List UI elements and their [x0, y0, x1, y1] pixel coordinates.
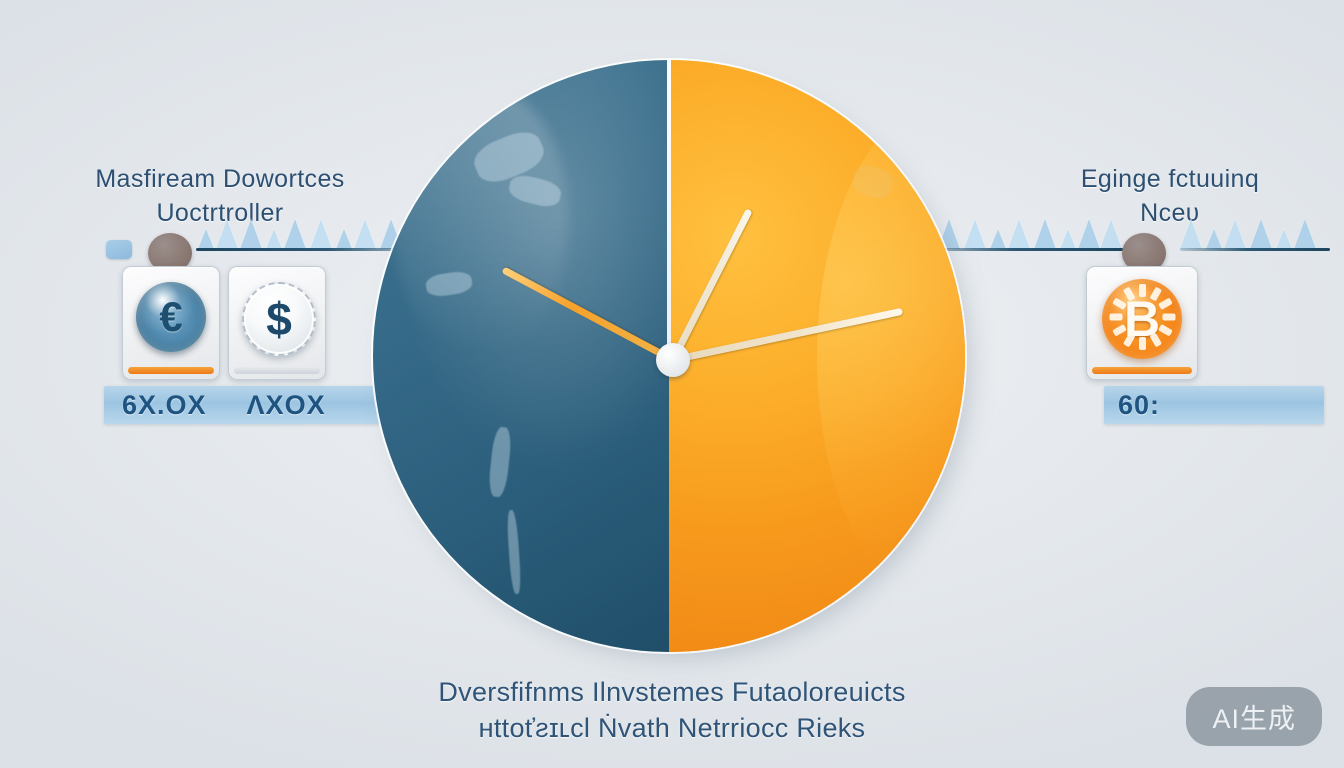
right-heading-line1: Eginge fctuuinq [1081, 165, 1259, 193]
right-rail-baseline-outer [1180, 248, 1330, 251]
pie-gloss-left [391, 84, 569, 356]
right-band-value-1: 60: [1118, 390, 1160, 421]
pie-divider [667, 60, 671, 356]
caption-line1: Dversfifnms Ilnvstemes Futaoloreuicts [0, 674, 1344, 710]
euro-symbol: € [159, 293, 182, 341]
euro-coin-icon: € [136, 282, 206, 352]
left-band-value-2: ΛXOX [247, 390, 326, 421]
pie-slice-orange[interactable] [669, 60, 965, 652]
left-square-marker [106, 240, 132, 259]
pie-slice-blue[interactable] [373, 60, 669, 652]
ai-generated-watermark: AI生成 [1186, 687, 1322, 746]
euro-card-accent [128, 367, 214, 374]
clock-center-hub [656, 343, 690, 377]
left-heading-line1: Masfiream Dowortces [95, 165, 344, 193]
right-zigzag-rail-outer [1180, 212, 1330, 258]
caption-line2: ʜttoťƨɪʟcl Ṅvath Netrriocc Rieks [0, 710, 1344, 746]
dollar-symbol: $ [266, 292, 292, 346]
pie-clock-chart[interactable] [373, 60, 973, 660]
card-bitcoin[interactable]: B ✓ ɪʜ. [1086, 266, 1198, 380]
right-teeth-group-outer [1180, 211, 1330, 249]
right-value-band: 60: [1104, 386, 1324, 424]
dollar-coin-icon: $ [242, 282, 316, 356]
bitcoin-card-accent [1092, 367, 1192, 374]
left-band-value-1: 6X.OX [122, 390, 207, 421]
bitcoin-coin-icon: B [1102, 279, 1182, 359]
card-dollar[interactable]: $ ᴘ ᴜ ᴄ ᴛ ᴇ [228, 266, 326, 380]
card-euro[interactable]: € ᴇ ᴇᴅ ᴀ [122, 266, 220, 380]
bitcoin-tick-ring [1102, 279, 1182, 359]
caption-block: Dversfifnms Ilnvstemes Futaoloreuicts ʜt… [0, 674, 1344, 746]
poster-canvas: Masfiream Dowortces Uoctrtroller € ᴇ ᴇᴅ … [0, 0, 1344, 768]
pie-inner-arc [817, 96, 965, 617]
dollar-card-accent [234, 367, 320, 374]
